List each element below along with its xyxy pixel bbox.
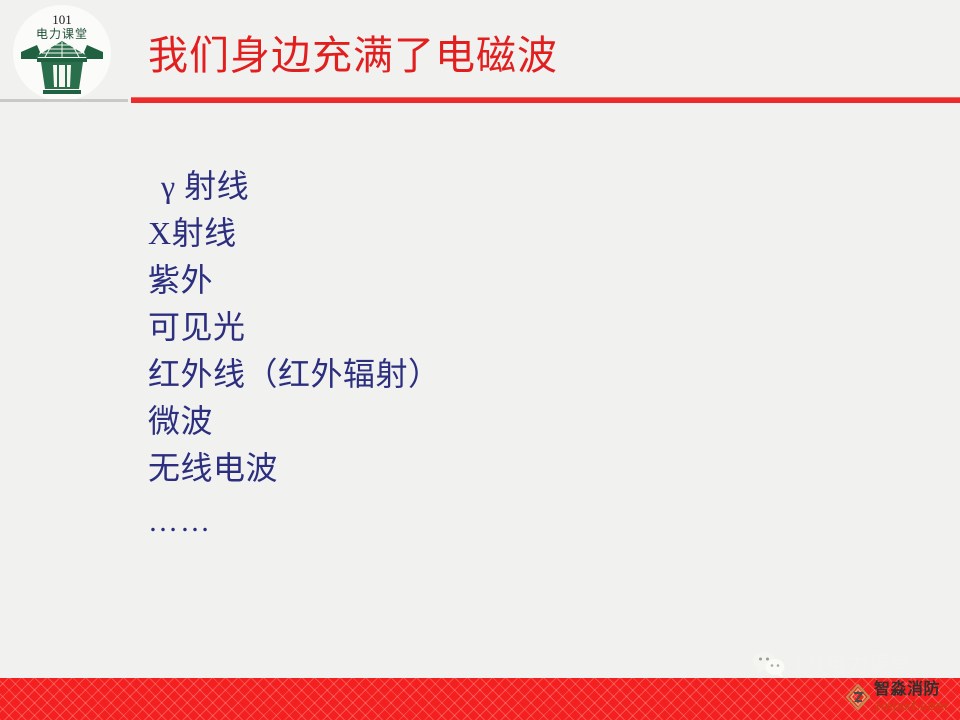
- svg-text:电力课堂: 电力课堂: [36, 27, 88, 41]
- slide-title: 我们身边充满了电磁波: [148, 36, 558, 76]
- watermark-text: 智淼消防 zmjaxf.com: [874, 682, 948, 712]
- wechat-label: 101电力课堂: [793, 654, 912, 675]
- brand-logo: 101 电力课堂: [13, 5, 111, 101]
- slide-canvas: 101 电力课堂 我们身边充满了电磁波 γ 射线 X射线 紫外 可见光 红外线（…: [0, 0, 960, 720]
- list-item-ellipsis: ……: [148, 492, 748, 545]
- watermark: 智淼消防 zmjaxf.com: [845, 682, 948, 712]
- list-item: 无线电波: [148, 445, 748, 492]
- watermark-brand: 智淼消防: [874, 682, 948, 698]
- footer-band: [0, 678, 960, 720]
- list-item: X射线: [148, 210, 748, 257]
- list-item: 微波: [148, 398, 748, 445]
- logo-emblem-icon: 101 电力课堂: [13, 5, 111, 101]
- watermark-diamond-icon: [845, 683, 871, 711]
- list-item: 紫外: [148, 257, 748, 304]
- wechat-brand: 101电力课堂: [752, 650, 912, 678]
- list-item: 可见光: [148, 304, 748, 351]
- wechat-icon: [752, 650, 786, 678]
- watermark-url: zmjaxf.com: [874, 699, 948, 712]
- list-item: 红外线（红外辐射）: [148, 351, 748, 398]
- svg-text:101: 101: [52, 12, 72, 27]
- header-divider-gray: [0, 99, 128, 102]
- electromagnetic-wave-list: γ 射线 X射线 紫外 可见光 红外线（红外辐射） 微波 无线电波 ……: [148, 163, 748, 545]
- header-divider-red: [131, 97, 960, 103]
- list-item: γ 射线: [148, 163, 748, 210]
